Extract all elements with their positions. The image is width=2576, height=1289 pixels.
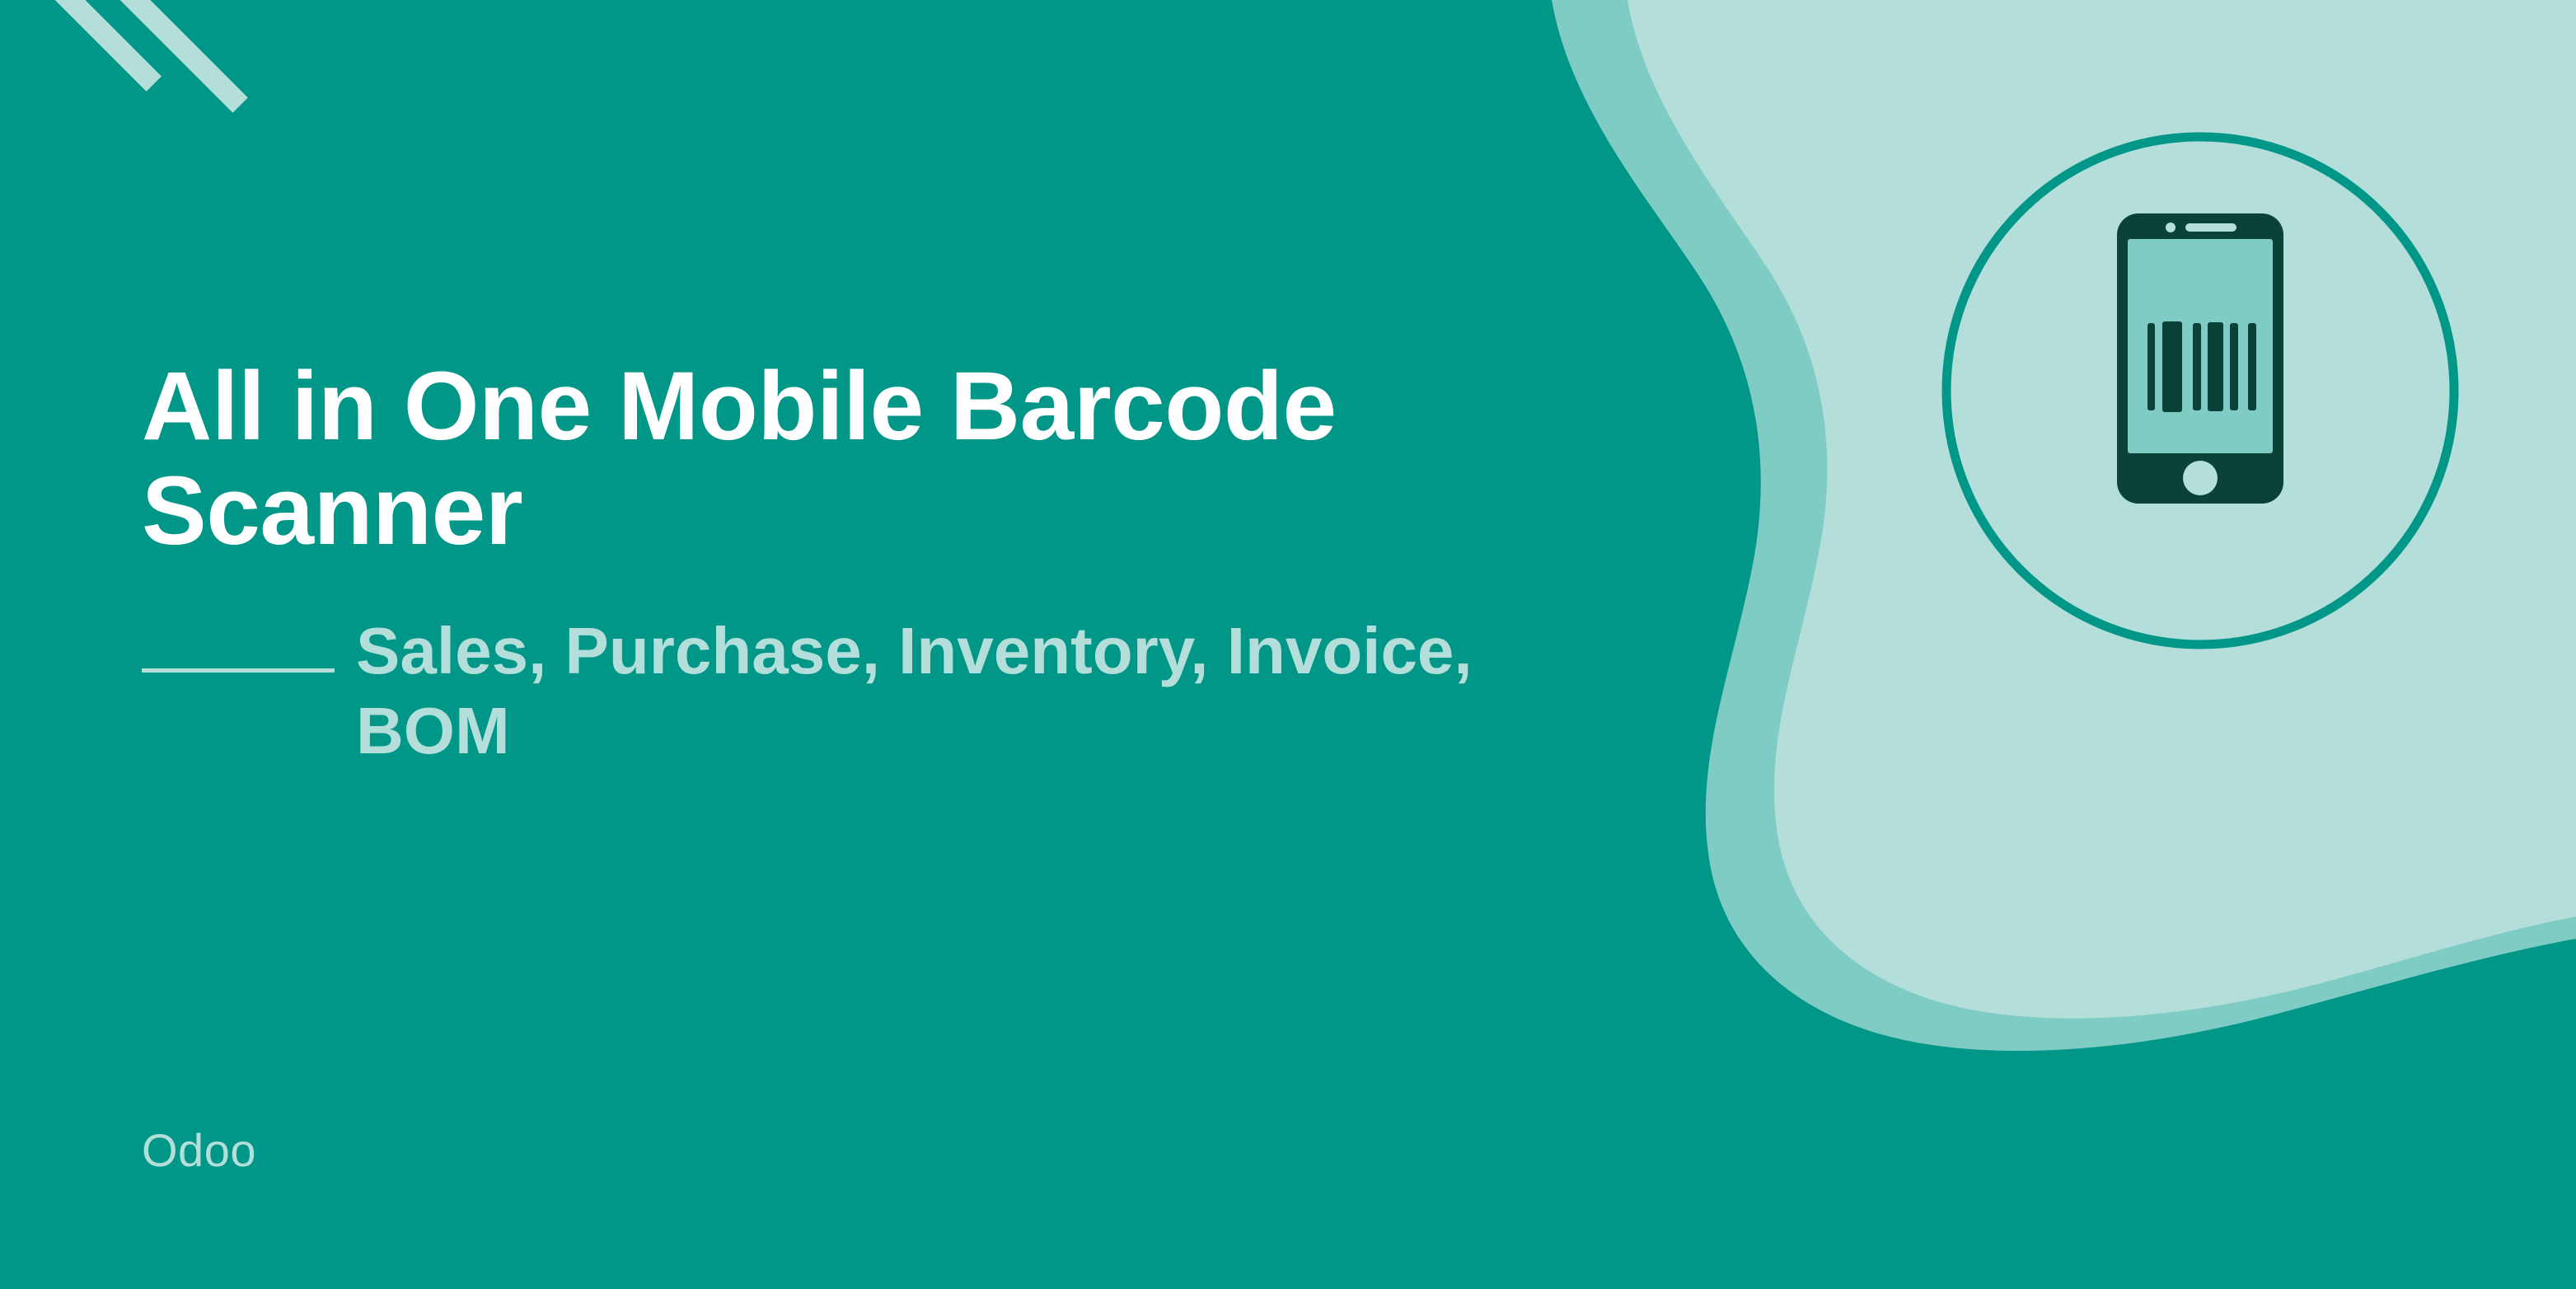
earpiece-speaker-icon <box>2185 223 2236 232</box>
barcode-bar <box>2230 323 2238 410</box>
barcode-bar <box>2248 323 2256 410</box>
slide-subtitle: Sales, Purchase, Inventory, Invoice, BOM <box>356 611 1473 771</box>
brand-label: Odoo <box>142 1127 256 1174</box>
front-camera-dot-icon <box>2166 223 2176 232</box>
slide-title: All in One Mobile Barcode Scanner <box>142 354 1707 565</box>
headline-block: All in One Mobile Barcode Scanner Sales,… <box>142 354 1773 771</box>
slide-canvas: All in One Mobile Barcode Scanner Sales,… <box>0 0 2576 1289</box>
barcode-bar <box>2147 323 2155 410</box>
mobile-barcode-scanner-icon <box>1935 125 2466 656</box>
subtitle-divider <box>142 668 335 673</box>
barcode-bar <box>2162 321 2182 412</box>
barcode-bar <box>2193 323 2201 410</box>
barcode-bar <box>2208 322 2223 411</box>
home-button-icon <box>2183 461 2218 495</box>
subtitle-row: Sales, Purchase, Inventory, Invoice, BOM <box>142 611 1773 771</box>
